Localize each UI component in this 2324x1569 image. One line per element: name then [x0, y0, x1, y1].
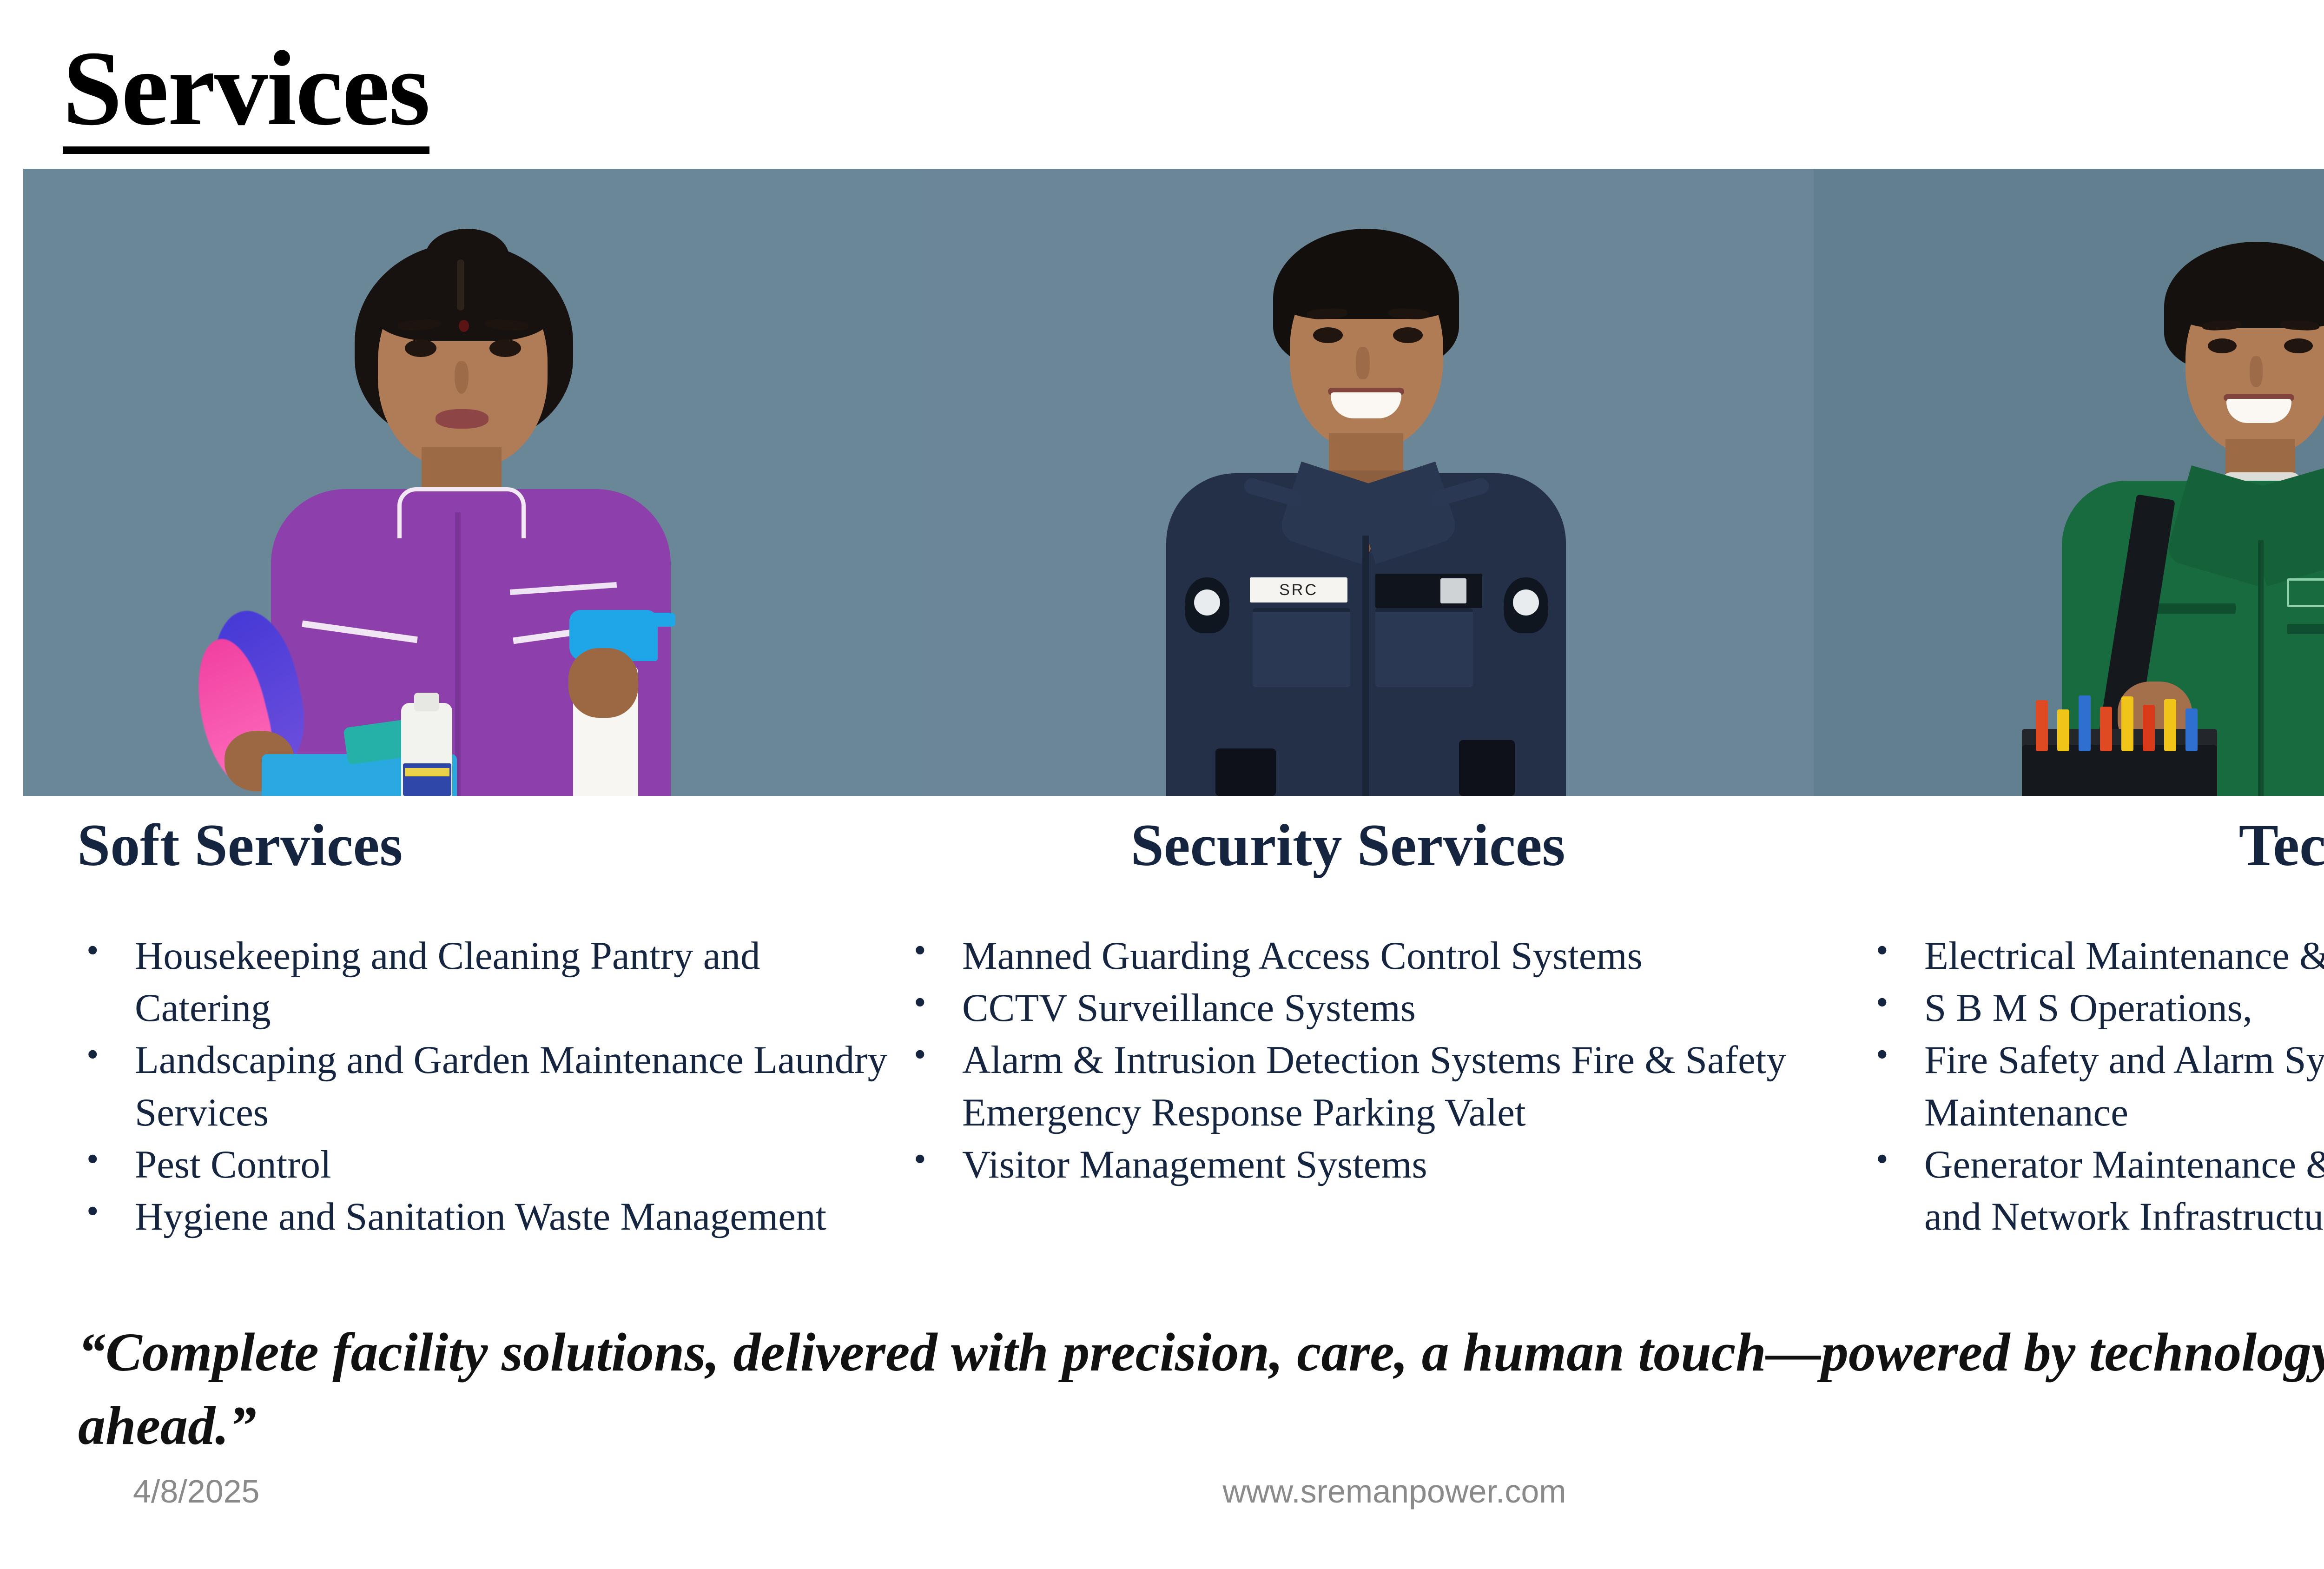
bottle-label-stripe — [405, 768, 449, 776]
list-item: Fire Safety and Alarm System Lift and El… — [1859, 1034, 2324, 1138]
column-security-services: Manned Guarding Access Control Systems C… — [897, 930, 1808, 1191]
list-item: Housekeeping and Cleaning Pantry and Cat… — [70, 930, 888, 1034]
slide: Services — [0, 0, 2324, 1569]
tool-item — [2036, 700, 2048, 751]
hand-right — [568, 648, 638, 718]
tool-item — [2079, 695, 2091, 751]
technician-photo — [1814, 169, 2324, 796]
eye-right — [489, 339, 521, 357]
hair-front — [1279, 245, 1455, 319]
chest-pocket-left — [1253, 608, 1350, 687]
shoulder-patch-right — [1504, 577, 1548, 633]
heading-soft-services-wrap: Soft Services — [77, 813, 403, 878]
security-services-list: Manned Guarding Access Control Systems C… — [897, 930, 1808, 1191]
spray-bottle-nozzle — [641, 613, 675, 627]
jacket-zipper — [2258, 540, 2264, 796]
tool-item — [2143, 705, 2155, 751]
tool-item — [2121, 696, 2133, 751]
tool-item — [2057, 709, 2069, 751]
smile-teeth — [2226, 399, 2291, 423]
smile-teeth — [1331, 392, 1401, 418]
chest-pocket-right — [1375, 608, 1473, 687]
badge-insert — [1440, 578, 1466, 603]
pocket-flap-right — [2287, 624, 2324, 634]
column-technical-services: Electrical Maintenance & HVAC Plumbing S… — [1859, 930, 2324, 1243]
duty-belt-left — [1215, 748, 1276, 796]
bottle-cap — [414, 693, 439, 711]
tool-bag — [2022, 745, 2217, 796]
list-item: S B M S Operations, — [1859, 982, 2324, 1034]
tool-item — [2164, 699, 2176, 751]
nose — [2250, 356, 2263, 387]
heading-security-services: Security Services — [906, 813, 1789, 878]
list-item: Pest Control — [70, 1139, 888, 1191]
list-item: Alarm & Intrusion Detection Systems Fire… — [897, 1034, 1808, 1138]
eye-right — [2284, 338, 2313, 353]
eye-left — [1313, 327, 1343, 343]
soft-services-list: Housekeeping and Cleaning Pantry and Cat… — [70, 930, 888, 1243]
housekeeping-photo — [23, 169, 918, 796]
shoulder-patch-left — [1185, 577, 1229, 633]
tool-item — [2100, 707, 2112, 751]
bindi — [459, 320, 469, 332]
page-title: Services — [63, 35, 429, 154]
column-soft-services: Housekeeping and Cleaning Pantry and Cat… — [70, 930, 888, 1243]
footer-website: www.sremanpower.com — [0, 1473, 2324, 1510]
housekeeping-person-figure — [215, 229, 726, 796]
list-item: Electrical Maintenance & HVAC Plumbing — [1859, 930, 2324, 982]
photo-band: SRC — [23, 169, 2324, 796]
security-photo: SRC — [918, 169, 1814, 796]
security-person-figure: SRC — [1134, 210, 1598, 796]
slide-footer: 4/8/2025 www.sremanpower.com 4 — [0, 1473, 2324, 1533]
tagline-quote: “Complete facility solutions, delivered … — [78, 1316, 2324, 1463]
heading-technical-services-wrap: Technical Services — [1850, 813, 2324, 878]
duty-belt-right — [1459, 740, 1515, 796]
page-title-wrapper: Services — [63, 35, 429, 154]
column-headings: Soft Services Security Services Technica… — [0, 813, 2324, 892]
technician-person-figure — [2027, 215, 2324, 796]
list-item: Generator Maintenance & Energy Managemen… — [1859, 1139, 2324, 1243]
technical-services-list: Electrical Maintenance & HVAC Plumbing S… — [1859, 930, 2324, 1243]
uniform-collar — [397, 487, 526, 538]
list-item: Hygiene and Sanitation Waste Management — [70, 1191, 888, 1243]
eye-left — [405, 339, 436, 357]
shirt-placket — [1362, 536, 1369, 796]
mouth — [436, 409, 489, 429]
uniform-placket — [455, 512, 461, 796]
heading-technical-services: Technical Services — [1850, 813, 2324, 878]
list-item: Visitor Management Systems — [897, 1139, 1808, 1191]
heading-security-services-wrap: Security Services — [906, 813, 1789, 878]
list-item: Manned Guarding Access Control Systems — [897, 930, 1808, 982]
list-item: CCTV Surveillance Systems — [897, 982, 1808, 1034]
nose — [455, 361, 469, 394]
list-item: Landscaping and Garden Maintenance Laund… — [70, 1034, 888, 1138]
eye-right — [1393, 327, 1423, 343]
heading-soft-services: Soft Services — [77, 813, 403, 878]
eye-left — [2208, 338, 2237, 353]
hair-part — [457, 259, 464, 311]
nose — [1356, 347, 1370, 379]
name-tag: SRC — [1250, 577, 1347, 602]
tool-item — [2185, 708, 2198, 751]
pocket-flap-left — [2152, 603, 2236, 614]
chest-name-panel — [2287, 578, 2324, 607]
